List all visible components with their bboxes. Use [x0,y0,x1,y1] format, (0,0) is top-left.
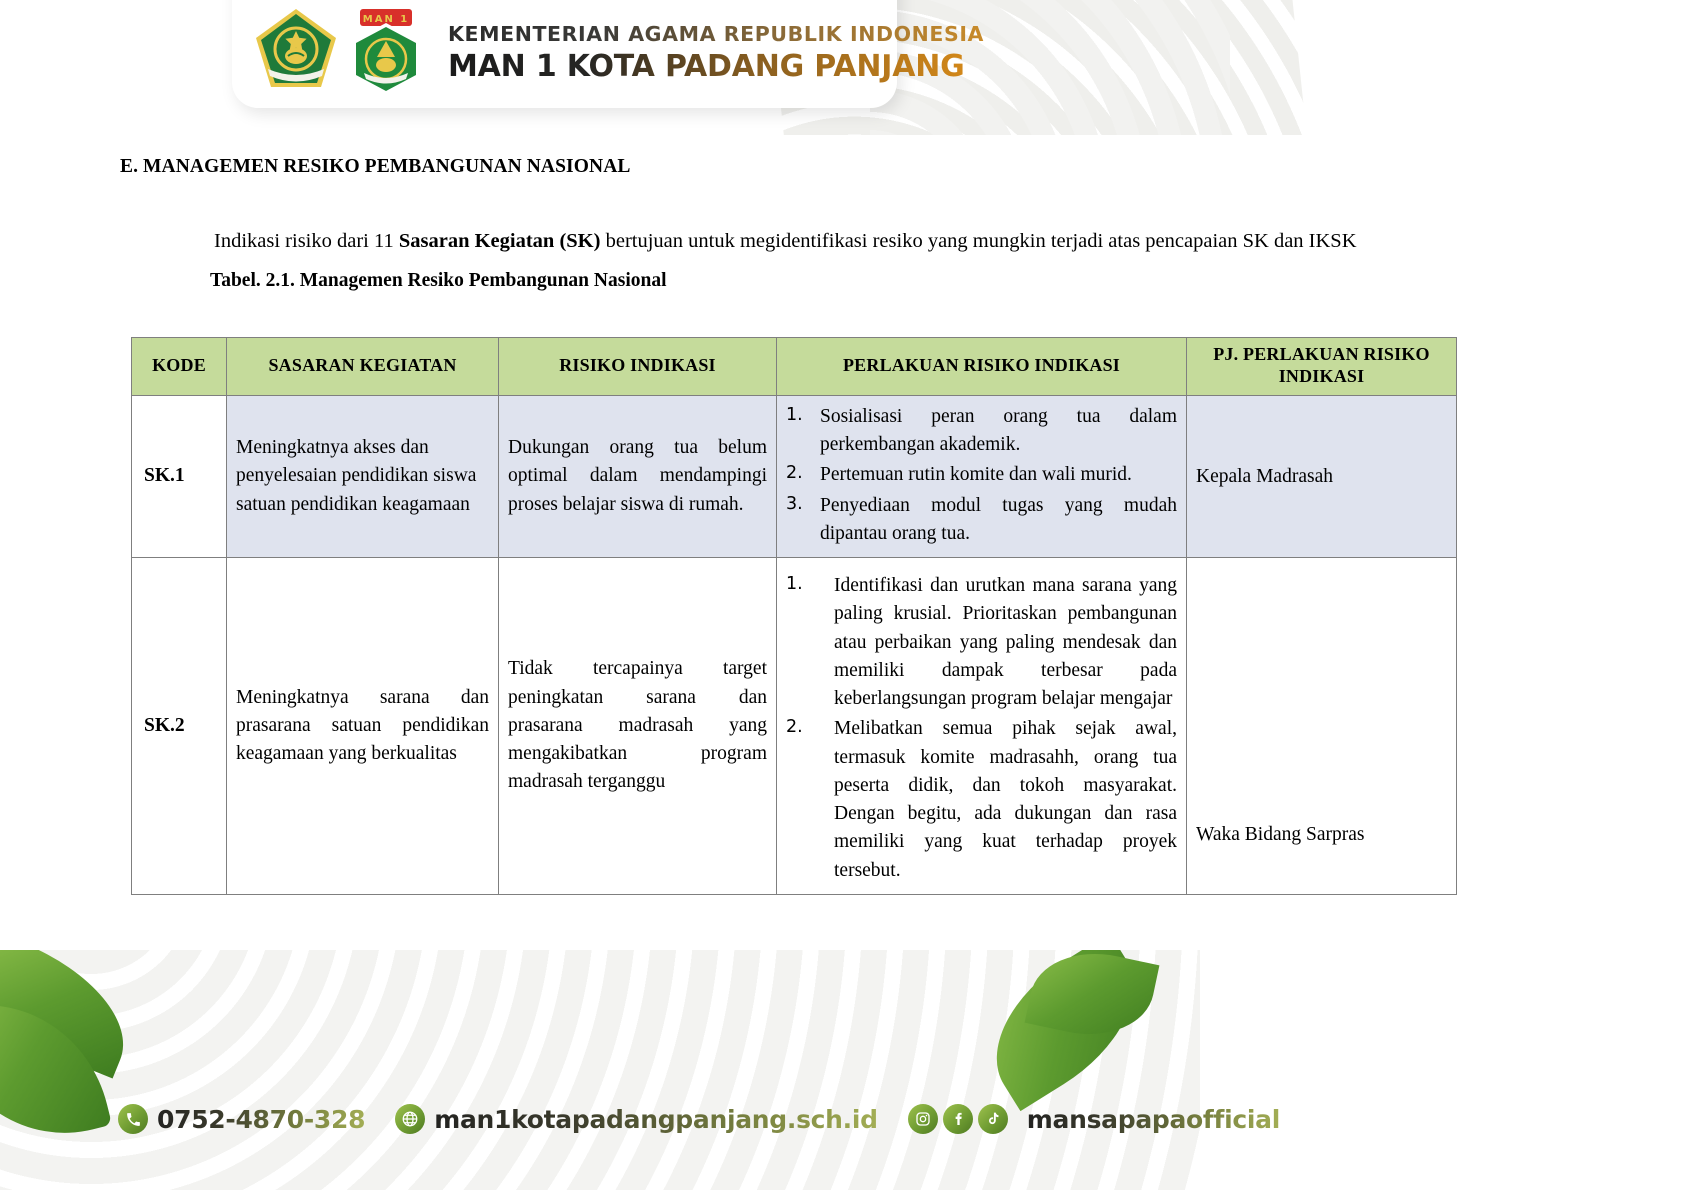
list-item: Melibatkan semua pihak sejak awal, terma… [786,715,1177,885]
kemenag-logo [254,7,338,99]
column-header-sasaran-kegiatan: SASARAN KEGIATAN [227,337,499,395]
phone-icon [118,1104,148,1134]
column-header-pj-perlakuan-risiko-indikasi: PJ. PERLAKUAN RISIKO INDIKASI [1187,337,1457,395]
row-kode: SK.2 [132,558,227,895]
header-logo-card: MAN 1 KEMENTERIAN AGAMA REPUBLIK INDONES… [232,0,897,108]
tiktok-icon[interactable] [978,1104,1008,1134]
intro-text-before: Indikasi risiko dari 11 [214,230,399,252]
list-item: Penyediaan modul tugas yang mudah dipant… [786,492,1177,549]
footer-social-group[interactable]: mansapapaofficial [908,1104,1280,1134]
table-header-row: KODE SASARAN KEGIATAN RISIKO INDIKASI PE… [132,337,1457,395]
footer-website-group[interactable]: man1kotapadangpanjang.sch.id [395,1104,878,1134]
ministry-name: KEMENTERIAN AGAMA REPUBLIK INDONESIA [448,23,984,46]
man1-logo: MAN 1 [346,7,426,99]
document-body: E. MANAGEMEN RESIKO PEMBANGUNAN NASIONAL… [0,140,1683,895]
column-header-kode: KODE [132,337,227,395]
row-perlakuan-risiko-indikasi: Sosialisasi peran orang tua dalam perkem… [777,395,1187,557]
row-sasaran-kegiatan: Meningkatnya sarana dan prasarana satuan… [227,558,499,895]
perlakuan-list: Sosialisasi peran orang tua dalam perkem… [786,403,1177,548]
row-pj-perlakuan: Waka Bidang Sarpras [1187,558,1457,895]
page-footer: 0752-4870-328 man1kotapadangpanjang.sch.… [0,950,1683,1190]
column-header-perlakuan-risiko-indikasi: PERLAKUAN RISIKO INDIKASI [777,337,1187,395]
list-item: Identifikasi dan urutkan mana sarana yan… [786,572,1177,713]
table-caption: Tabel. 2.1. Managemen Resiko Pembangunan… [210,270,1683,292]
row-risiko-indikasi: Tidak tercapainya target peningkatan sar… [499,558,777,895]
footer-phone-number: 0752-4870-328 [157,1105,365,1134]
row-perlakuan-risiko-indikasi: Identifikasi dan urutkan mana sarana yan… [777,558,1187,895]
school-name: MAN 1 KOTA PADANG PANJANG [448,50,984,83]
footer-phone-group[interactable]: 0752-4870-328 [118,1104,365,1134]
perlakuan-list: Identifikasi dan urutkan mana sarana yan… [786,572,1177,885]
list-item: Sosialisasi peran orang tua dalam perkem… [786,403,1177,460]
page-title: E. MANAGEMEN RESIKO PEMBANGUNAN NASIONAL [120,156,1683,178]
social-icon-set [908,1104,1017,1134]
globe-icon [395,1104,425,1134]
row-risiko-indikasi: Dukungan orang tua belum optimal dalam m… [499,395,777,557]
instagram-icon[interactable] [908,1104,938,1134]
row-sasaran-kegiatan: Meningkatnya akses dan penyelesaian pend… [227,395,499,557]
table-row: SK.2 Meningkatnya sarana dan prasarana s… [132,558,1457,895]
risk-management-table: KODE SASARAN KEGIATAN RISIKO INDIKASI PE… [131,337,1457,895]
column-header-risiko-indikasi: RISIKO INDIKASI [499,337,777,395]
page-header: MAN 1 KEMENTERIAN AGAMA REPUBLIK INDONES… [0,0,1683,135]
intro-paragraph: Indikasi risiko dari 11 Sasaran Kegiatan… [130,226,1553,258]
footer-contact-bar: 0752-4870-328 man1kotapadangpanjang.sch.… [118,1104,1310,1134]
table-head: KODE SASARAN KEGIATAN RISIKO INDIKASI PE… [132,337,1457,395]
list-item: Pertemuan rutin komite dan wali murid. [786,461,1177,489]
table-row: SK.1 Meningkatnya akses dan penyelesaian… [132,395,1457,557]
row-kode: SK.1 [132,395,227,557]
intro-text-bold: Sasaran Kegiatan (SK) [399,230,601,252]
footer-social-handle: mansapapaofficial [1027,1105,1280,1134]
footer-website-url: man1kotapadangpanjang.sch.id [434,1105,878,1134]
header-institution-text: KEMENTERIAN AGAMA REPUBLIK INDONESIA MAN… [448,23,984,83]
facebook-icon[interactable] [943,1104,973,1134]
row-pj-perlakuan: Kepala Madrasah [1187,395,1457,557]
table-body: SK.1 Meningkatnya akses dan penyelesaian… [132,395,1457,894]
intro-text-after: bertujuan untuk megidentifikasi resiko y… [600,230,1356,252]
